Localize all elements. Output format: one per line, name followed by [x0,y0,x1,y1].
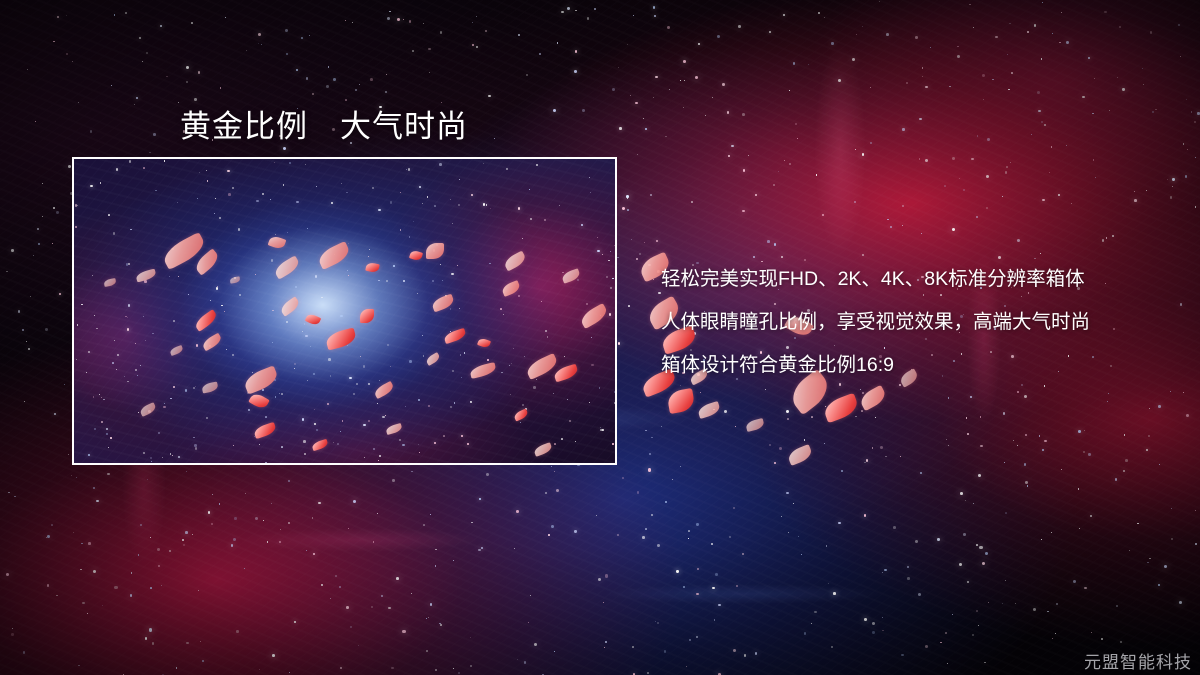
body-line-1: 轻松完美实现FHD、2K、4K、8K标准分辨率箱体 [661,258,1161,301]
body-text-block: 轻松完美实现FHD、2K、4K、8K标准分辨率箱体 人体眼睛瞳孔比例，享受视觉效… [661,258,1161,387]
body-line-2: 人体眼睛瞳孔比例，享受视觉效果，高端大气时尚 [661,301,1161,344]
page-title: 黄金比例 大气时尚 [180,101,468,146]
framed-image-content [74,159,615,463]
body-line-3: 箱体设计符合黄金比例16:9 [661,344,1161,387]
presentation-slide: 黄金比例 大气时尚 轻松完美实现FHD、2K、4K、8K标准分辨率箱体 人体眼睛… [0,0,1200,675]
watermark-text: 元盟智能科技 [1084,648,1192,673]
inner-starfield [74,159,615,463]
framed-image-panel [72,157,617,465]
